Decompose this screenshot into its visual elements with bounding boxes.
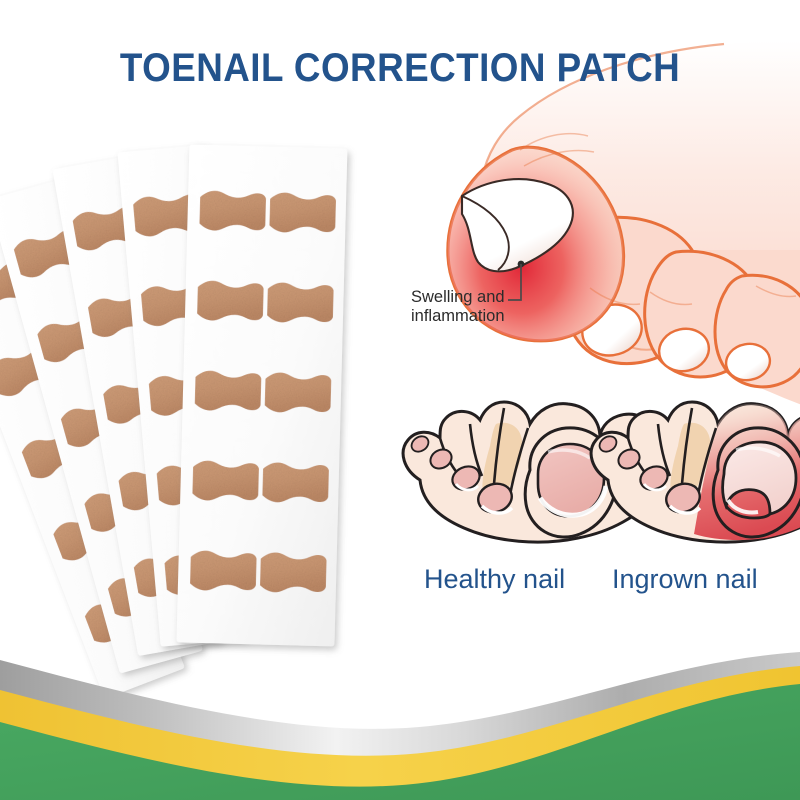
product-poster: TOENAIL CORRECTION PATCH Swelling and in… (0, 0, 800, 800)
swelling-annotation-label: Swelling and inflammation (411, 288, 505, 327)
healthy-nail-caption: Healthy nail (424, 564, 565, 595)
bottom-wave-decoration (0, 0, 800, 800)
page-title: TOENAIL CORRECTION PATCH (32, 46, 768, 91)
ingrown-nail-caption: Ingrown nail (612, 564, 758, 595)
